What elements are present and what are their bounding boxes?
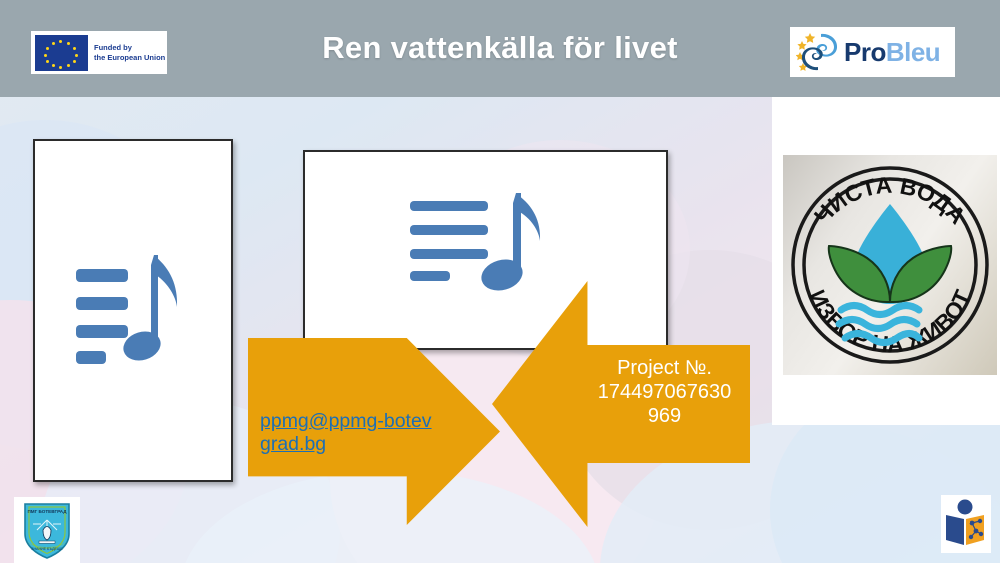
clean-water-emblem-icon: ЧИСТА ВОДА ИЗВОР НА ЖИВОТ [787,162,993,368]
email-link[interactable]: ppmg@ppmg-botevgrad.bg [260,410,438,456]
probleu-logo[interactable]: ProBleu [790,27,955,77]
eu-logo-line1: Funded by [94,43,165,53]
eu-logo-text: Funded by the European Union [94,43,165,62]
project-number-line2: 174497067630 [582,380,747,404]
probleu-wordmark: ProBleu [844,37,940,68]
school-shield-icon: ПМГ БОТЕВГРАД ЗНАНИЕ БЪДЕЩЕ [19,500,75,560]
project-number-line3: 969 [582,404,747,428]
book-network-icon[interactable] [941,495,991,553]
probleu-swirl-icon [796,30,842,74]
presentation-slide: Ren vattenkälla för livet Funded by the … [0,0,1000,563]
music-thumbnail-landscape[interactable] [303,150,668,350]
emblem-photo: ЧИСТА ВОДА ИЗВОР НА ЖИВОТ [783,155,997,375]
book-network-glyph-icon [943,498,989,550]
school-crest-logo[interactable]: ПМГ БОТЕВГРАД ЗНАНИЕ БЪДЕЩЕ [14,497,80,563]
eu-flag-icon [35,35,88,71]
music-note-playlist-icon [406,191,566,309]
music-note-playlist-icon [74,251,192,371]
svg-text:ЗНАНИЕ БЪДЕЩЕ: ЗНАНИЕ БЪДЕЩЕ [31,547,63,551]
probleu-bleu-text: Bleu [886,37,940,67]
eu-funding-logo: Funded by the European Union [31,31,167,74]
svg-text:ПМГ БОТЕВГРАД: ПМГ БОТЕВГРАД [27,509,67,514]
music-thumbnail-portrait[interactable] [33,139,233,482]
project-number-line1: Project №. [582,356,747,380]
project-number-text: Project №. 174497067630 969 [582,356,747,428]
eu-logo-line2: the European Union [94,53,165,63]
probleu-pro-text: Pro [844,37,886,67]
